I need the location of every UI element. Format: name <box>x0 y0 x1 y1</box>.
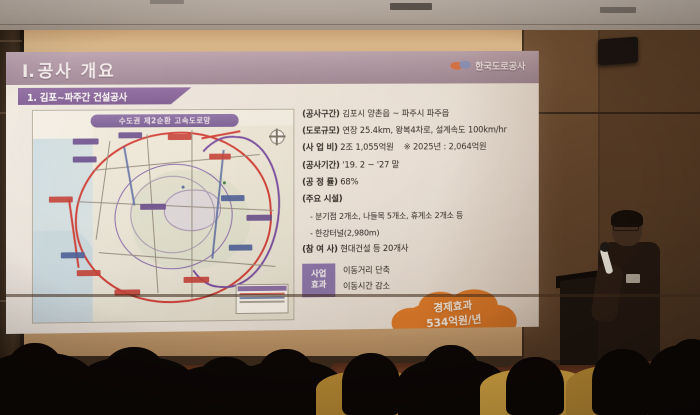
ceiling-speaker-icon <box>598 37 638 66</box>
ceiling-seam <box>0 24 700 25</box>
spec-value: 김포시 양촌읍 ~ 파주시 파주읍 <box>342 109 449 119</box>
spec-label: (공 정 률) <box>302 177 338 187</box>
conference-room-scene: I.공사 개요 한국도로공사 1. 김포~파주간 건설공사 수도권 제2순환 고… <box>0 0 700 415</box>
effect-line: 이동시간 감소 <box>343 282 390 291</box>
presenter <box>586 212 664 372</box>
audience-head <box>100 347 168 415</box>
audience-shoulders <box>398 359 506 415</box>
ceiling-vent-icon <box>600 7 636 13</box>
map-point-of-interest <box>182 186 185 189</box>
economic-effect-callout: 경제효과 534억원/년 <box>390 289 517 334</box>
compass-icon <box>270 130 285 145</box>
wall-seam <box>0 40 22 42</box>
projected-slide: I.공사 개요 한국도로공사 1. 김포~파주간 건설공사 수도권 제2순환 고… <box>6 51 539 334</box>
logo-mark-icon <box>450 60 471 72</box>
spec-value: 68% <box>340 177 358 187</box>
spec-row-progress: (공 정 률) 68% <box>302 177 530 187</box>
spec-note: ※ 2025년 : 2,064억원 <box>404 143 487 153</box>
facility-item: - 한강터널(2,980m) <box>302 227 530 237</box>
effect-tag-line2: 효과 <box>311 280 326 291</box>
spec-label: (공사구간) <box>302 109 340 119</box>
audience-shoulders <box>316 371 426 415</box>
slide-header-bar: I.공사 개요 한국도로공사 <box>6 51 539 85</box>
spec-value: 연장 25.4km, 왕복4차로, 설계속도 100km/hr <box>342 126 507 137</box>
spec-row-section: (공사구간) 김포시 양촌읍 ~ 파주시 파주읍 <box>302 110 530 120</box>
facility-item: - 분기점 2개소, 나들목 5개소, 휴게소 2개소 등 <box>302 211 530 221</box>
seat <box>330 363 426 415</box>
map-legend-row <box>240 293 285 296</box>
presenter-badge <box>626 274 640 283</box>
spec-row-participants: (참 여 사) 현대건설 등 20개사 <box>302 243 530 254</box>
spec-value: 현대건설 등 20개사 <box>340 244 408 255</box>
map-place-label <box>140 204 166 210</box>
map-legend-row <box>240 297 285 300</box>
seat <box>148 365 244 415</box>
effect-text-lines: 이동거리 단축 이동시간 감소 <box>343 263 390 299</box>
page-title-text: 공사 개요 <box>38 62 116 82</box>
spec-label: (도로규모) <box>302 126 340 136</box>
spec-row-period: (공사기간) '19. 2 ~ '27 말 <box>302 160 530 170</box>
spec-row-scale: (도로규모) 연장 25.4km, 왕복4차로, 설계속도 100km/hr <box>302 126 530 136</box>
map-place-label <box>229 245 253 251</box>
spec-value: '19. 2 ~ '27 말 <box>342 160 399 170</box>
wall-right-trim <box>522 112 700 114</box>
spec-row-facilities: (주요 시설) <box>302 194 530 204</box>
effect-tag-line1: 사업 <box>311 270 326 281</box>
corporate-logo: 한국도로공사 <box>450 59 525 73</box>
audience-head <box>342 353 400 415</box>
map-legend-header <box>238 286 287 292</box>
slide-subtitle-bar: 1. 김포~파주간 건설공사 <box>18 87 191 105</box>
map-title-banner: 수도권 제2순환 고속도로망 <box>91 114 239 128</box>
audience-shoulders <box>172 365 284 415</box>
seat <box>0 363 86 415</box>
project-spec-list: (공사구간) 김포시 양촌읍 ~ 파주시 파주읍 (도로규모) 연장 25.4k… <box>302 110 530 263</box>
map-place-label <box>77 270 101 276</box>
audience-head <box>256 349 316 415</box>
microphone-head-icon <box>600 242 610 252</box>
audience-head <box>506 357 564 415</box>
spec-label: (참 여 사) <box>302 244 338 254</box>
map-place-label <box>246 215 271 221</box>
map-place-label <box>209 154 231 160</box>
seat <box>236 369 328 415</box>
spec-row-budget: (사 업 비) 2조 1,055억원 ※ 2025년 : 2,064억원 <box>302 143 530 153</box>
audience-shoulders <box>236 361 342 415</box>
effect-line: 이동거리 단축 <box>343 266 390 275</box>
page-title: I.공사 개요 <box>22 57 116 82</box>
audience-head <box>196 357 256 415</box>
glasses-icon <box>613 224 639 231</box>
map-legend-row <box>240 301 285 304</box>
map-legend <box>236 284 289 314</box>
map-place-label <box>221 195 245 201</box>
map-place-label <box>61 252 85 258</box>
logo-text: 한국도로공사 <box>475 59 525 73</box>
map-place-label <box>73 138 99 144</box>
effect-tag-badge: 사업 효과 <box>302 263 335 297</box>
map-point-of-interest <box>223 181 226 184</box>
seat <box>420 367 512 415</box>
map-place-label <box>184 277 210 283</box>
map-road <box>191 130 192 299</box>
spec-label: (사 업 비) <box>302 143 338 153</box>
expressway-network-map: 수도권 제2순환 고속도로망 <box>32 109 294 324</box>
map-place-label <box>114 289 140 295</box>
map-place-label <box>168 134 192 140</box>
seat <box>60 367 156 415</box>
spec-value: 2조 1,055억원 <box>340 143 393 153</box>
audience-shoulders <box>78 357 194 415</box>
ceiling <box>0 0 700 33</box>
spec-label: (주요 시설) <box>302 194 342 204</box>
map-title-text: 수도권 제2순환 고속도로망 <box>119 115 211 126</box>
ceiling-vent-icon <box>150 0 184 4</box>
page-title-number: I. <box>22 62 35 82</box>
map-place-label <box>118 132 142 138</box>
map-place-label <box>73 156 97 162</box>
spec-label: (공사기간) <box>302 160 340 170</box>
map-place-label <box>49 196 73 202</box>
slide-subtitle-text: 1. 김포~파주간 건설공사 <box>18 89 127 103</box>
audience-shoulders <box>480 369 592 415</box>
ceiling-vent-icon <box>390 3 432 10</box>
